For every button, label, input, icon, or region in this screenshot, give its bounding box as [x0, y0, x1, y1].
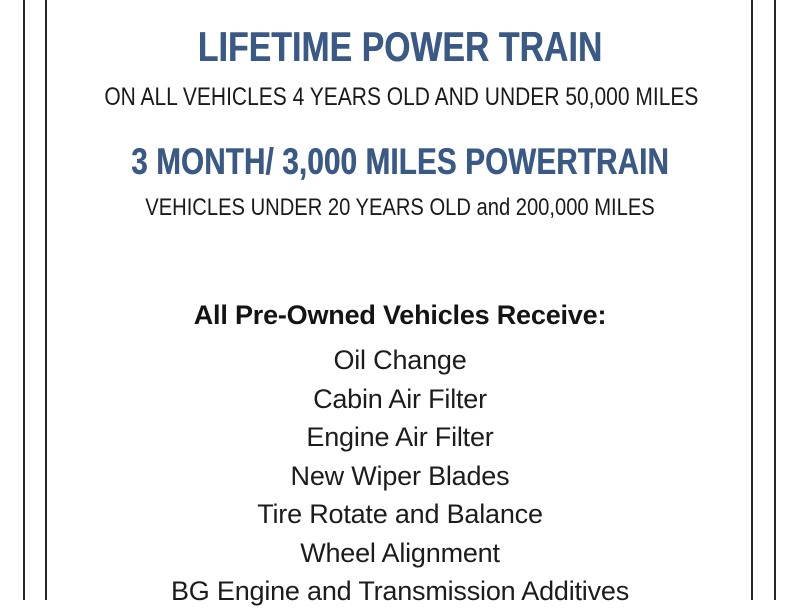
warranty-heading-3month: 3 MONTH/ 3,000 MILES POWERTRAIN — [118, 143, 681, 180]
services-list: Oil Change Cabin Air Filter Engine Air F… — [48, 341, 752, 611]
warranty-offer-3month: 3 MONTH/ 3,000 MILES POWERTRAIN VEHICLES… — [48, 143, 752, 220]
list-item: Wheel Alignment — [48, 534, 752, 573]
services-section: All Pre-Owned Vehicles Receive: Oil Chan… — [48, 302, 752, 611]
list-item: Oil Change — [48, 341, 752, 380]
frame-line-left-inner — [45, 0, 47, 600]
flyer-content: LIFETIME POWER TRAIN ON ALL VEHICLES 4 Y… — [48, 0, 752, 600]
list-item: Cabin Air Filter — [48, 380, 752, 419]
services-heading: All Pre-Owned Vehicles Receive: — [48, 302, 752, 329]
list-item: BG Engine and Transmission Additives — [48, 572, 752, 611]
warranty-heading-lifetime: LIFETIME POWER TRAIN — [118, 26, 681, 68]
frame-line-right-outer — [774, 0, 776, 600]
frame-line-left-outer — [23, 0, 25, 600]
list-item: New Wiper Blades — [48, 457, 752, 496]
warranty-subtitle-lifetime: ON ALL VEHICLES 4 YEARS OLD AND UNDER 50… — [104, 85, 695, 110]
warranty-subtitle-3month: VEHICLES UNDER 20 YEARS OLD and 200,000 … — [104, 196, 695, 220]
promotional-flyer: LIFETIME POWER TRAIN ON ALL VEHICLES 4 Y… — [0, 0, 800, 600]
warranty-offer-lifetime: LIFETIME POWER TRAIN ON ALL VEHICLES 4 Y… — [48, 26, 752, 110]
list-item: Engine Air Filter — [48, 418, 752, 457]
list-item: Tire Rotate and Balance — [48, 495, 752, 534]
